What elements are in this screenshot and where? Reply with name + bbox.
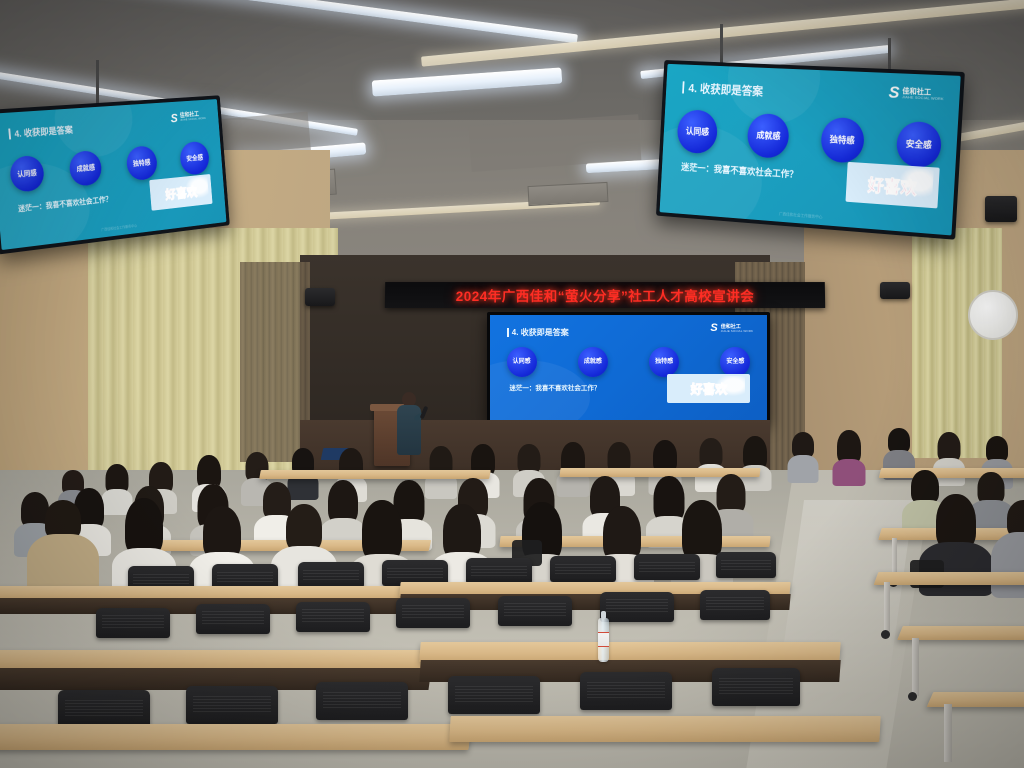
- logo-mark: S: [710, 323, 717, 334]
- desk-leg: [944, 704, 952, 762]
- audience-person: [326, 480, 360, 542]
- logo-mark: S: [888, 84, 900, 101]
- desk-row-0: [0, 724, 472, 750]
- slide-sticker: 好喜欢: [667, 374, 750, 403]
- chair[interactable]: [600, 592, 674, 622]
- logo-mark: S: [170, 112, 178, 124]
- desk-row-1: [0, 650, 431, 670]
- slide-left: 4. 收获即是答案 S 佳和社工 JIAHE SOCIAL WORK 认同感 成…: [0, 99, 226, 250]
- slide-circle-2: 成就感: [747, 113, 790, 159]
- slide-circle-3: 独特感: [649, 347, 679, 377]
- slide-circle-4: 安全感: [895, 121, 942, 169]
- person-body: [788, 455, 819, 483]
- audience-person: [836, 430, 862, 476]
- person-hair: [362, 500, 402, 562]
- led-banner-text: 2024年广西佳和“萤火分享”社工人才高校宣讲会: [456, 285, 755, 305]
- logo-sub: JIAHE SOCIAL WORK: [180, 117, 206, 122]
- logo-sub: JIAHE SOCIAL WORK: [902, 95, 944, 101]
- person-body: [833, 459, 866, 486]
- slide-circle-4: 安全感: [720, 347, 750, 377]
- slide-logo: S 佳和社工 JIAHE SOCIAL WORK: [710, 323, 753, 334]
- slide-circle-1: 认同感: [507, 347, 537, 377]
- slide-circle-4: 安全感: [179, 141, 210, 176]
- audience-person: [560, 442, 586, 486]
- chair[interactable]: [186, 686, 278, 724]
- desk-caster: [908, 692, 917, 701]
- slide-circle-2: 成就感: [69, 150, 103, 187]
- sticker-doodle-icon: [899, 167, 934, 198]
- chair[interactable]: [466, 558, 532, 584]
- sticker-doodle-icon: [185, 176, 208, 199]
- wall-speaker-far-right: [985, 196, 1017, 222]
- wall-clock: [968, 290, 1018, 340]
- audience-person: [40, 500, 86, 590]
- chair[interactable]: [712, 668, 800, 706]
- slide-title: 4. 收获即是答案: [507, 327, 569, 338]
- person-hair: [286, 504, 322, 552]
- chair[interactable]: [96, 608, 170, 638]
- slide-main: 4. 收获即是答案 S 佳和社工 JIAHE SOCIAL WORK 认同感 成…: [490, 315, 767, 421]
- slide-circle-row: 认同感 成就感 独特感 安全感: [490, 347, 767, 377]
- chair[interactable]: [58, 690, 150, 728]
- wall-speaker-right: [880, 282, 910, 299]
- logo-sub: JIAHE SOCIAL WORK: [721, 330, 753, 333]
- slide-circle-1: 认同感: [676, 109, 718, 154]
- water-bottle[interactable]: [598, 618, 609, 662]
- desk-row-0b: [449, 716, 880, 742]
- ceiling-air-vent-2: [528, 182, 609, 206]
- presenter-body: [397, 405, 421, 455]
- lecture-hall-photo: 4. 收获即是答案 S 佳和社工 JIAHE SOCIAL WORK 认同感 成…: [0, 0, 1024, 768]
- chair[interactable]: [580, 672, 672, 710]
- chair[interactable]: [498, 596, 572, 626]
- tv-left-panel: 4. 收获即是答案 S 佳和社工 JIAHE SOCIAL WORK 认同感 成…: [0, 99, 226, 250]
- slide-logo: S 佳和社工 JIAHE SOCIAL WORK: [170, 110, 206, 124]
- projection-panel: 4. 收获即是答案 S 佳和社工 JIAHE SOCIAL WORK 认同感 成…: [490, 315, 767, 421]
- audience-person: [790, 432, 816, 478]
- chair[interactable]: [550, 556, 616, 582]
- slide-sticker: 好喜欢: [846, 162, 940, 209]
- chair[interactable]: [700, 590, 770, 620]
- audience-person: [428, 446, 454, 490]
- right-curtain: [912, 228, 1002, 458]
- person-body: [991, 532, 1024, 598]
- slide-right: 4. 收获即是答案 S 佳和社工 JIAHE SOCIAL WORK 认同感 成…: [660, 64, 961, 236]
- desk-leg: [884, 582, 890, 634]
- slide-circle-3: 独特感: [125, 145, 158, 181]
- tv-right[interactable]: 4. 收获即是答案 S 佳和社工 JIAHE SOCIAL WORK 认同感 成…: [656, 60, 965, 240]
- slide-logo: S 佳和社工 JIAHE SOCIAL WORK: [888, 84, 944, 103]
- led-banner: 2024年广西佳和“萤火分享”社工人才高校宣讲会: [385, 282, 825, 308]
- desk-side-1: [874, 572, 1024, 585]
- chair[interactable]: [634, 554, 700, 580]
- chair[interactable]: [296, 602, 370, 632]
- tv-right-panel: 4. 收获即是答案 S 佳和社工 JIAHE SOCIAL WORK 认同感 成…: [660, 64, 961, 236]
- sticker-doodle-icon: [716, 376, 746, 396]
- slide-circle-1: 认同感: [9, 155, 45, 193]
- chair[interactable]: [448, 676, 540, 714]
- chair[interactable]: [196, 604, 270, 634]
- presenter: [396, 392, 422, 454]
- desk-leg: [912, 638, 919, 696]
- slide-title: 4. 收获即是答案: [682, 79, 763, 99]
- chair[interactable]: [716, 552, 776, 578]
- chair[interactable]: [316, 682, 408, 720]
- person-hair: [682, 500, 722, 562]
- chair[interactable]: [298, 562, 364, 588]
- wall-speaker-left: [305, 288, 335, 306]
- slide-sticker: 好喜欢: [149, 174, 213, 211]
- chair[interactable]: [396, 598, 470, 628]
- desk-caster: [881, 630, 890, 639]
- slide-question: 迷茫一：我喜不喜欢社会工作？: [509, 382, 600, 392]
- slide-circle-3: 独特感: [820, 117, 865, 164]
- desk-row-1b: [419, 642, 840, 662]
- slide-circle-2: 成就感: [578, 347, 608, 377]
- desk-side-3: [927, 692, 1024, 707]
- projection-screen[interactable]: 4. 收获即是答案 S 佳和社工 JIAHE SOCIAL WORK 认同感 成…: [487, 312, 770, 424]
